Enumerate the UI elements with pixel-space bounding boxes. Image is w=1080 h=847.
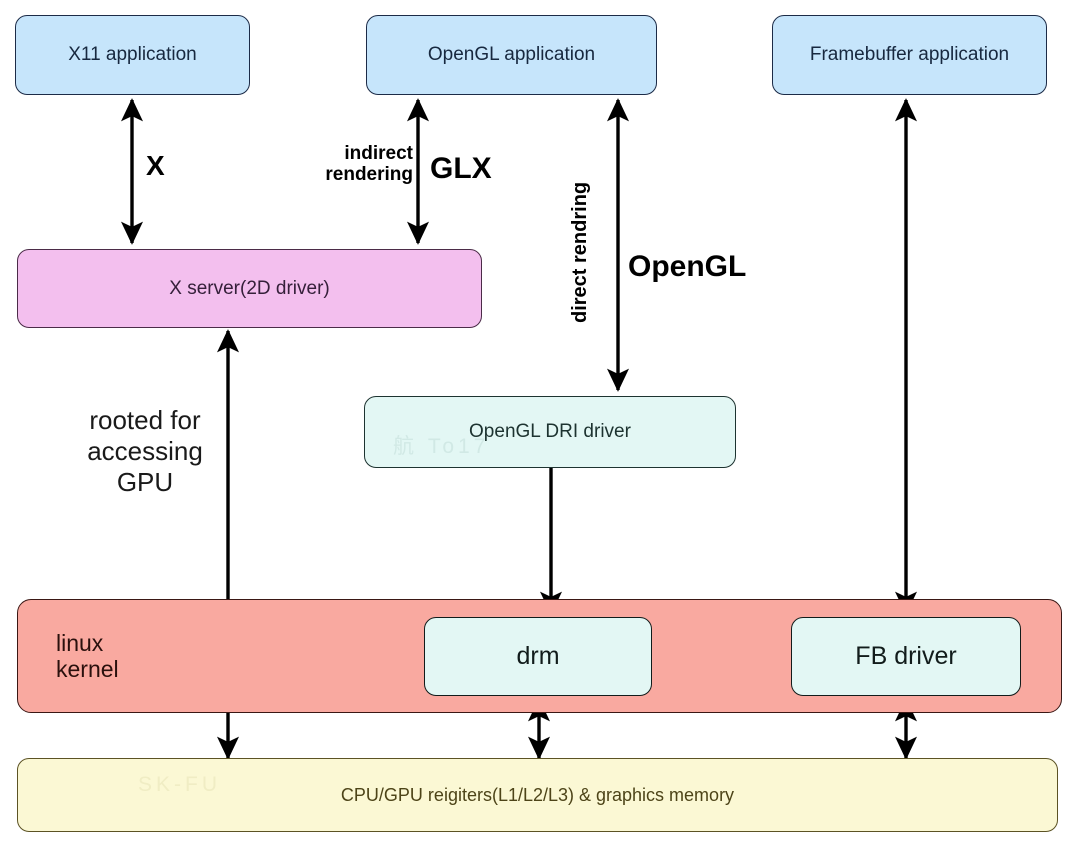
node-framebuffer-application[interactable]: Framebuffer application xyxy=(772,15,1047,95)
node-memory-label: CPU/GPU reigiters(L1/L2/L3) & graphics m… xyxy=(341,785,734,806)
edge-label-indirect-rendering: indirect rendering xyxy=(305,143,413,186)
edge-label-direct-rendring: direct rendring xyxy=(569,182,592,323)
node-opengl-application-label: OpenGL application xyxy=(428,44,595,66)
watermark-memory: SK-FU xyxy=(138,773,221,797)
edge-label-opengl: OpenGL xyxy=(628,250,746,284)
node-fb-driver-label: FB driver xyxy=(855,642,956,671)
node-opengl-dri-driver[interactable]: 航 To17 OpenGL DRI driver xyxy=(364,396,736,468)
node-x-server-label: X server(2D driver) xyxy=(169,278,329,300)
node-x11-application-label: X11 application xyxy=(68,44,197,66)
edge-label-rooted-for-accessing-gpu: rooted for accessing GPU xyxy=(75,405,215,499)
edge-label-x-protocol: X xyxy=(146,150,165,181)
diagram-canvas: X11 application OpenGL application Frame… xyxy=(0,0,1080,847)
node-fb-driver[interactable]: FB driver xyxy=(791,617,1021,696)
node-framebuffer-application-label: Framebuffer application xyxy=(810,44,1009,66)
watermark-dri: 航 To17 xyxy=(393,435,489,459)
node-opengl-dri-driver-label: OpenGL DRI driver xyxy=(469,421,631,443)
edge-label-glx: GLX xyxy=(430,152,492,186)
node-opengl-application[interactable]: OpenGL application xyxy=(366,15,657,95)
node-linux-kernel-label: linux kernel xyxy=(18,630,119,683)
node-x-server[interactable]: X server(2D driver) xyxy=(17,249,482,328)
node-memory[interactable]: SK-FU CPU/GPU reigiters(L1/L2/L3) & grap… xyxy=(17,758,1058,832)
node-x11-application[interactable]: X11 application xyxy=(15,15,250,95)
node-drm[interactable]: drm xyxy=(424,617,652,696)
node-drm-label: drm xyxy=(516,642,559,671)
